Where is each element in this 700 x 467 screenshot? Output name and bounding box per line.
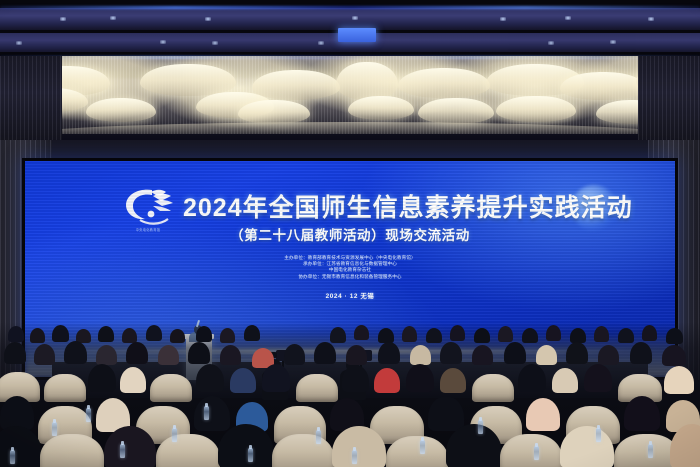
organizer-block: 主办单位：教育部教育技术与资源发展中心（中央电化教育馆） 承办单位：江苏省教育信… — [25, 255, 675, 280]
water-bottle — [52, 422, 57, 436]
water-bottle — [10, 450, 15, 464]
water-bottle — [596, 428, 601, 442]
ceiling-light-band-1 — [0, 8, 700, 30]
event-subtitle: （第二十八届教师活动）现场交流活动 — [25, 224, 675, 244]
water-bottle — [316, 430, 321, 444]
water-bottle — [534, 446, 539, 460]
water-bottle — [86, 408, 91, 422]
ceiling-indicator-panel — [338, 28, 376, 42]
water-bottle — [172, 428, 177, 442]
conference-hall-photo: 中央电化教育馆 2024年全国师生信息素养提升实践活动 （第二十八届教师活动）现… — [0, 0, 700, 467]
water-bottle — [478, 420, 483, 434]
ceiling-blue-glow-top — [0, 6, 700, 9]
water-bottle — [420, 440, 425, 454]
ceiling-wall-right — [638, 56, 700, 148]
chandelier-installation — [0, 56, 700, 134]
water-bottle — [648, 444, 653, 458]
water-bottle — [204, 406, 209, 420]
water-bottle — [352, 450, 357, 464]
audience-area — [0, 322, 700, 467]
ceiling — [0, 0, 700, 148]
organizer-line: 协办单位：无锡市教育信息化和装备管理服务中心 — [25, 274, 675, 280]
event-date-location: 2024 · 12 无锡 — [25, 291, 675, 300]
water-bottle — [248, 448, 253, 462]
ceiling-wall-left — [0, 56, 62, 148]
water-bottle — [120, 444, 125, 458]
event-title: 2024年全国师生信息素养提升实践活动 — [183, 188, 633, 224]
